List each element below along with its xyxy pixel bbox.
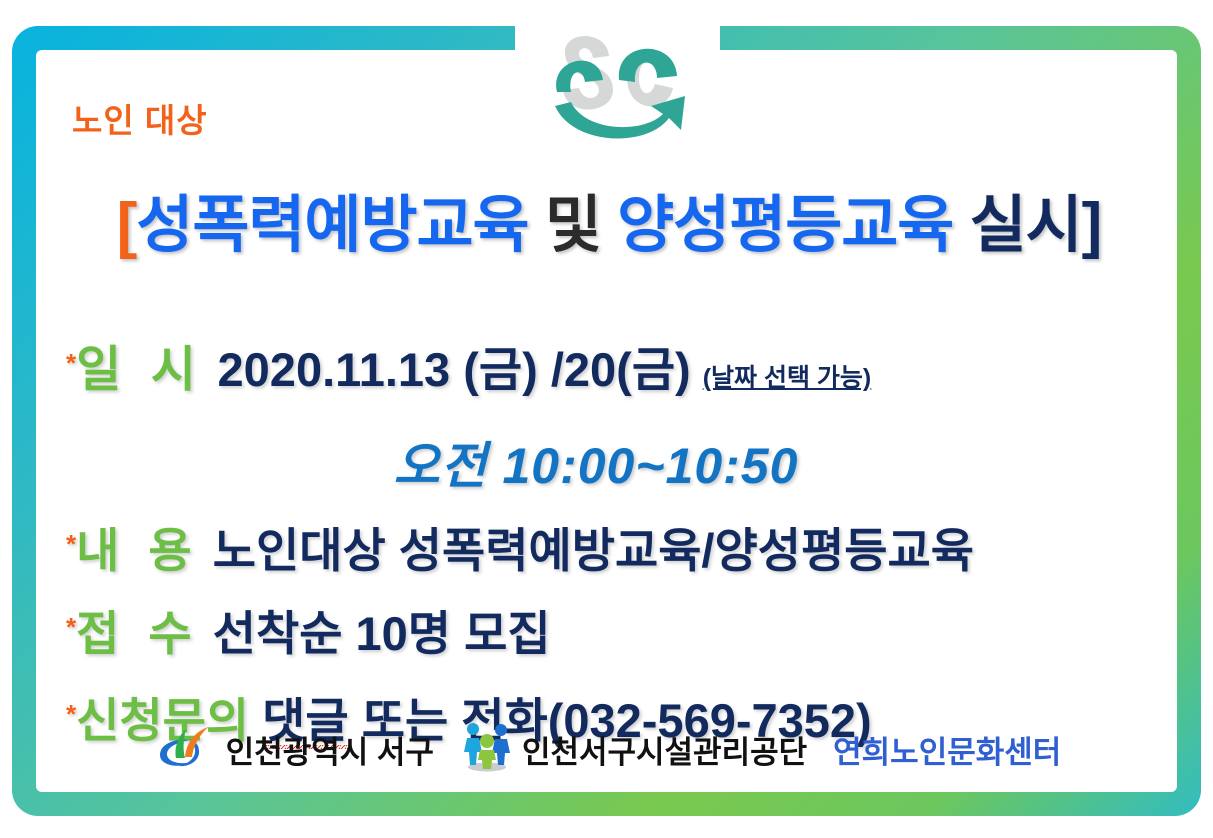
bullet-star-date: * — [66, 348, 76, 378]
footer-org-facility-label: 인천서구시설관리공단 — [522, 727, 807, 772]
row-content: *내 용 노인대상 성폭력예방교육/양성평등교육 — [66, 512, 974, 581]
title-part-sexual-violence: 성폭력예방교육 — [136, 191, 528, 260]
label-content: 내 용 — [76, 524, 200, 577]
value-content: 노인대상 성폭력예방교육/양성평등교육 — [213, 524, 974, 577]
page-title: [성폭력예방교육 및 양성평등교육 실시] — [44, 174, 1174, 264]
poster-frame: 노인 대상 [성폭력예방교육 및 양성평등교육 실시] *일 시 2020.11… — [12, 26, 1201, 816]
footer-org-center-label: 연희노인문화센터 — [833, 727, 1061, 772]
footer-org-seogu-label: 인천광역시 서구 — [226, 727, 434, 772]
value-date: 2020.11.13 (금) /20(금) — [218, 343, 691, 396]
footer-org-facility: 인천서구시설관리공단 — [460, 721, 807, 778]
title-open-bracket: [ — [117, 191, 137, 260]
footer-org-seogu: 인천광역시 서구 — [152, 722, 434, 777]
audience-eyebrow: 노인 대상 — [72, 94, 208, 142]
people-icon — [460, 721, 514, 778]
row-registration: *접 수 선착순 10명 모집 — [66, 595, 551, 664]
row-time: 오전 10:00~10:50 — [36, 426, 1156, 498]
title-conjunction: 및 — [545, 191, 601, 260]
bullet-star-content: * — [66, 529, 76, 559]
label-registration: 접 수 — [76, 607, 200, 660]
poster-content: 노인 대상 [성폭력예방교육 및 양성평등교육 실시] *일 시 2020.11… — [36, 50, 1177, 792]
footer: 인천광역시 서구 인천서구시설관리공 — [36, 721, 1177, 778]
value-registration: 선착순 10명 모집 — [213, 607, 551, 660]
title-part-conduct: 실시] — [970, 191, 1102, 260]
label-date: 일 시 — [76, 343, 204, 397]
poster-body: 노인 대상 [성폭력예방교육 및 양성평등교육 실시] *일 시 2020.11… — [36, 50, 1177, 792]
sg-logo — [515, 22, 720, 150]
seogu-swoosh-icon — [152, 722, 218, 777]
title-part-gender-equality: 양성평등교육 — [617, 191, 953, 260]
note-date-choice: (날짜 선택 가능) — [703, 364, 872, 392]
row-date: *일 시 2020.11.13 (금) /20(금)(날짜 선택 가능) — [66, 330, 871, 401]
bullet-star-registration: * — [66, 612, 76, 642]
